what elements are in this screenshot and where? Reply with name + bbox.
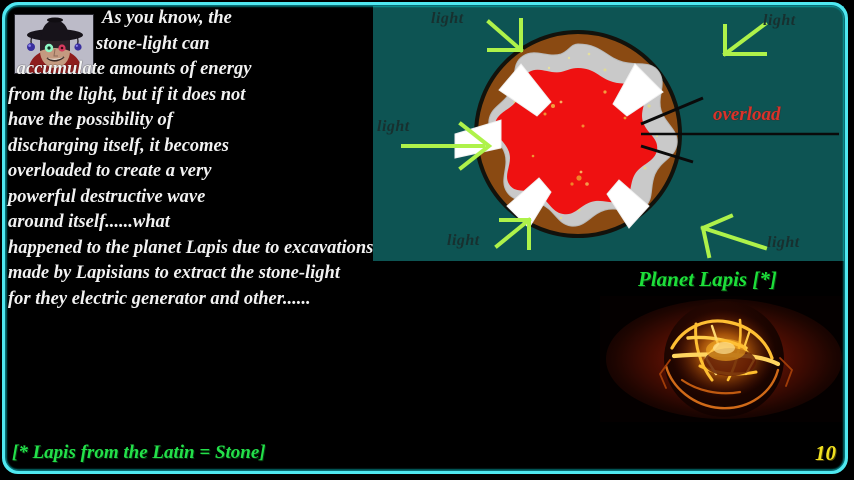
planet-lapis-caption: Planet Lapis [*] <box>638 267 777 292</box>
light-label-bottom-right: light <box>767 234 800 252</box>
arrow-top-right <box>725 24 765 54</box>
light-label-bottom-left: light <box>447 232 480 250</box>
cracked-glowing-planet-image <box>600 296 848 422</box>
arrow-bottom-left <box>497 220 529 248</box>
light-label-top-left: light <box>431 10 464 28</box>
narration-line: made by Lapisians to extract the stone-l… <box>6 261 584 287</box>
light-label-left: light <box>377 118 410 136</box>
page-number: 10 <box>815 441 836 466</box>
arrow-top-left <box>489 20 521 50</box>
narration-line: for they electric generator and other...… <box>6 287 584 313</box>
slide-canvas: As you know, the stone-light can accumul… <box>0 0 854 480</box>
planet-lapis-photo <box>600 296 848 422</box>
light-label-top-right: light <box>763 12 796 30</box>
footnote: [* Lapis from the Latin = Stone] <box>12 442 266 464</box>
arrow-bottom-right <box>703 216 765 256</box>
overload-label: overload <box>713 104 781 126</box>
planet-overload-illustration <box>373 6 844 261</box>
planet-cross-section-diagram: light light light light light overload <box>373 6 844 261</box>
